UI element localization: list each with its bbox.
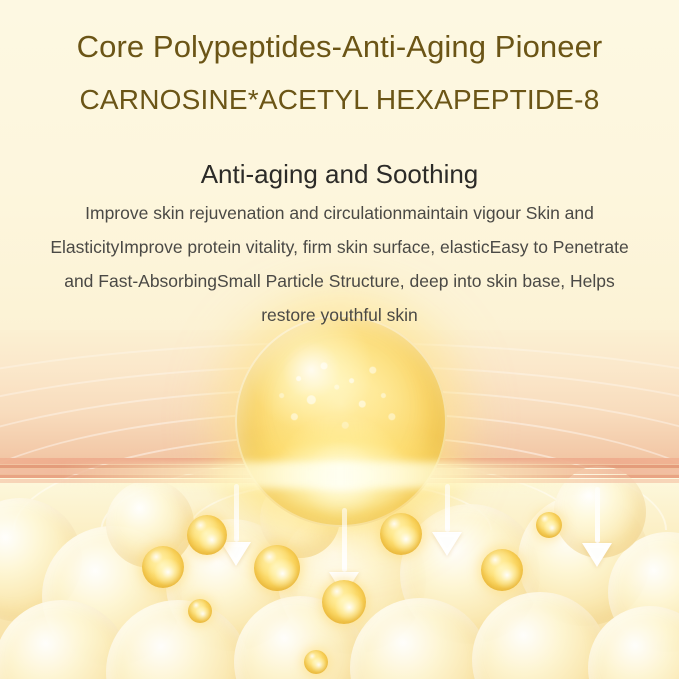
droplet-horizontal-flare <box>60 462 620 488</box>
page-title-line2: CARNOSINE*ACETYL HEXAPEPTIDE-8 <box>0 83 679 116</box>
droplet-small-5 <box>322 580 366 624</box>
penetration-arrow-3 <box>432 484 462 556</box>
arrow-shaft <box>445 484 450 532</box>
droplet-small-3 <box>254 545 300 591</box>
droplet-small-2 <box>142 546 184 588</box>
arrow-shaft <box>595 487 600 543</box>
droplet-small-6 <box>304 650 328 674</box>
section-subheading: Anti-aging and Soothing <box>0 159 679 190</box>
arrow-head <box>221 542 251 566</box>
arrow-head <box>582 543 612 567</box>
page-title-line1: Core Polypeptides-Anti-Aging Pioneer <box>0 29 679 65</box>
droplet-small-4 <box>188 599 212 623</box>
penetration-arrow-1 <box>221 484 251 566</box>
promotional-graphic: Core Polypeptides-Anti-Aging Pioneer CAR… <box>0 0 679 679</box>
droplet-small-1 <box>187 515 227 555</box>
droplet-small-9 <box>536 512 562 538</box>
droplet-small-7 <box>380 513 422 555</box>
body-paragraph: Improve skin rejuvenation and circulatio… <box>50 196 629 332</box>
arrow-shaft <box>234 484 239 542</box>
golden-serum-droplet <box>235 315 447 527</box>
penetration-arrow-4 <box>582 487 612 567</box>
arrow-head <box>432 532 462 556</box>
droplet-rim-highlight <box>235 315 447 527</box>
arrow-shaft <box>342 508 347 572</box>
droplet-small-8 <box>481 549 523 591</box>
